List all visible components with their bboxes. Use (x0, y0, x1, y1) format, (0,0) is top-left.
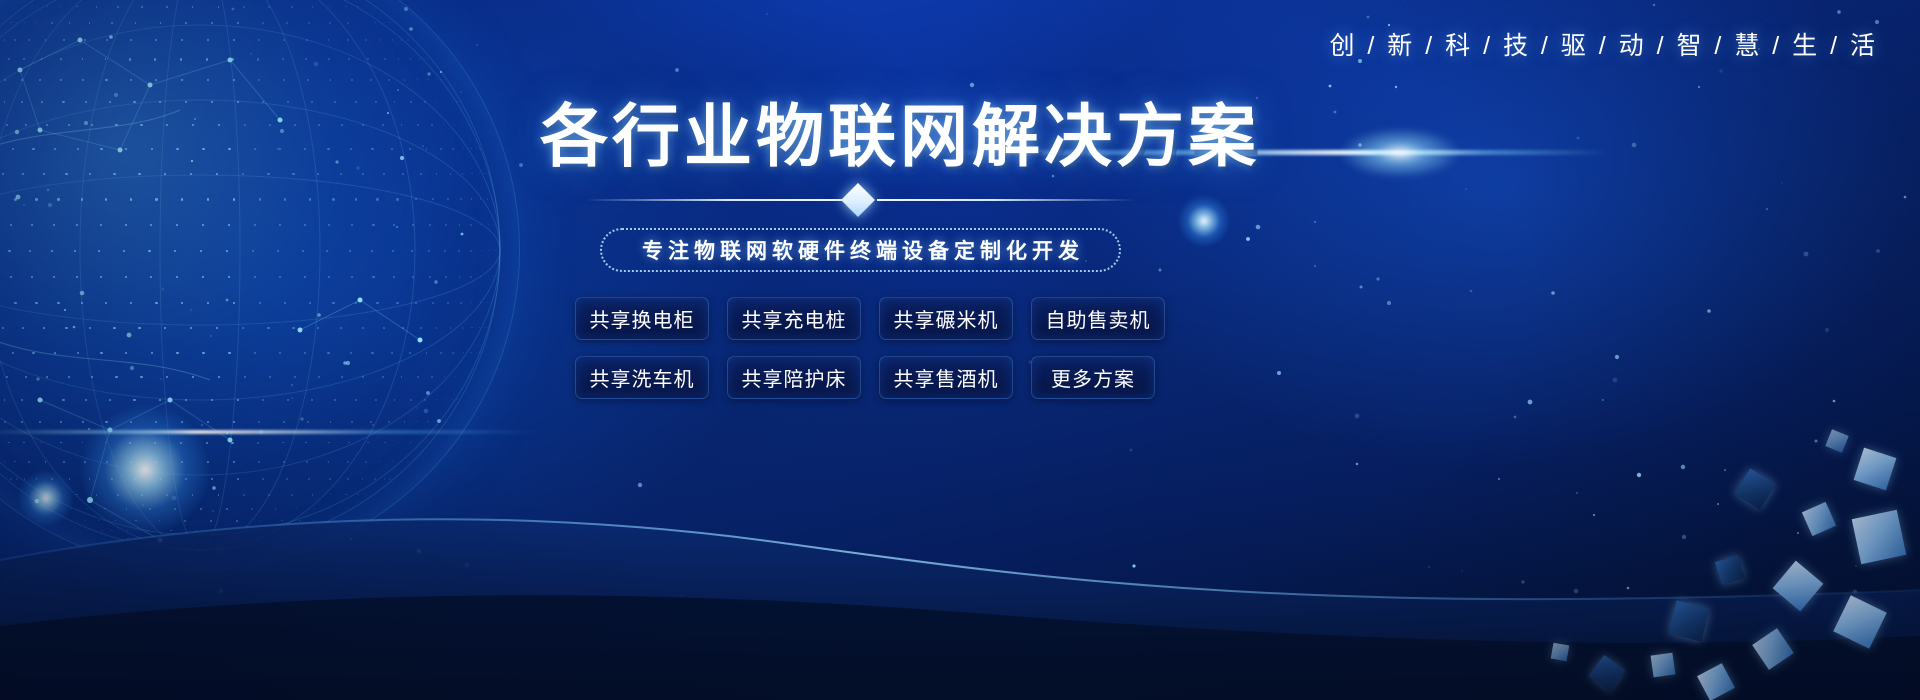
diamond-icon (841, 183, 875, 217)
kicker-tagline: 创 / 新 / 科 / 技 / 驱 / 动 / 智 / 慧 / 生 / 活 (1329, 26, 1878, 62)
solution-tag-button[interactable]: 共享陪护床 (727, 356, 861, 399)
content-layer: 创 / 新 / 科 / 技 / 驱 / 动 / 智 / 慧 / 生 / 活 各行… (0, 0, 1920, 700)
solution-tag-button[interactable]: 共享充电桩 (727, 297, 861, 340)
divider-line-right (877, 199, 1135, 201)
solution-tag-button[interactable]: 共享换电柜 (575, 297, 709, 340)
solution-tag-button[interactable]: 共享洗车机 (575, 356, 709, 399)
subtitle-text: 专注物联网软硬件终端设备定制化开发 (637, 235, 1084, 265)
page-title: 各行业物联网解决方案 (540, 103, 1180, 171)
title-divider (585, 190, 1135, 210)
tag-row: 共享换电柜共享充电桩共享碾米机自助售卖机 (575, 297, 1155, 340)
divider-line-left (585, 199, 843, 201)
solution-tag-button[interactable]: 共享售酒机 (879, 356, 1013, 399)
tag-row: 共享洗车机共享陪护床共享售酒机更多方案 (575, 356, 1155, 399)
solution-tag-button[interactable]: 自助售卖机 (1031, 297, 1165, 340)
subtitle-pill: 专注物联网软硬件终端设备定制化开发 (600, 228, 1121, 272)
solution-tag-button[interactable]: 共享碾米机 (879, 297, 1013, 340)
banner-root: 创 / 新 / 科 / 技 / 驱 / 动 / 智 / 慧 / 生 / 活 各行… (0, 0, 1920, 700)
solution-tag-button[interactable]: 更多方案 (1031, 356, 1155, 399)
solution-tag-list: 共享换电柜共享充电桩共享碾米机自助售卖机共享洗车机共享陪护床共享售酒机更多方案 (575, 297, 1155, 415)
